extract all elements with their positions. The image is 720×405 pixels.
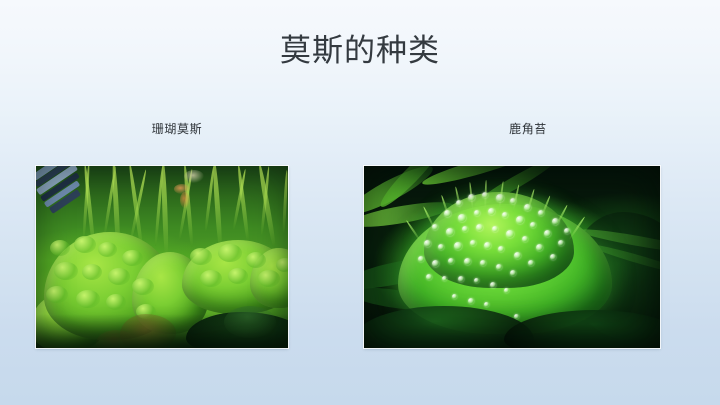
- slide-canvas: 莫斯的种类 珊瑚莫斯 鹿角苔: [0, 0, 720, 405]
- riccia-photo: [364, 166, 660, 348]
- image-caption-left: 珊瑚莫斯: [102, 121, 252, 137]
- coral-moss-photo: [36, 166, 288, 348]
- page-title: 莫斯的种类: [0, 32, 720, 70]
- coral-moss-artwork: [36, 166, 288, 348]
- image-caption-right: 鹿角苔: [453, 121, 603, 137]
- riccia-artwork: [364, 166, 660, 348]
